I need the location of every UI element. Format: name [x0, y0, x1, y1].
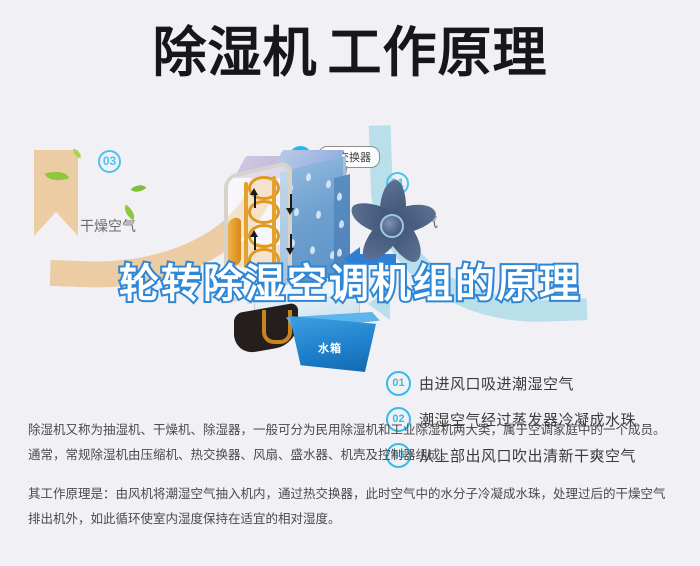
dehumidifier-unit: 水箱 [206, 142, 376, 372]
airflow-arrow-down [286, 208, 294, 215]
step-text: 由进风口吸进潮湿空气 [419, 373, 574, 394]
dry-air-label: 干燥空气 [80, 216, 136, 236]
refrigerant-cylinder [228, 216, 241, 267]
body-paragraph-one: 除湿机又称为抽湿机、干燥机、除湿器，一般可分为民用除湿机和工业除湿机两大类，属于… [28, 418, 676, 468]
airflow-arrow-stem [290, 234, 292, 248]
page-title: 除湿机工作原理 [0, 26, 700, 80]
airflow-arrow-down [286, 248, 294, 255]
watermark-overlay: 轮转除湿空调机组的原理 [0, 262, 700, 306]
list-item: 01 由进风口吸进潮湿空气 [386, 368, 686, 399]
airflow-arrow-stem [254, 236, 256, 250]
copper-u-bend [262, 310, 292, 344]
infographic-page: 除湿机工作原理 03 干燥空气 01 潮湿空气 02 热交换器 [0, 0, 700, 566]
fan-hub [380, 214, 404, 238]
dry-air-badge: 03 [98, 150, 121, 173]
copper-tube [244, 182, 248, 268]
fan [342, 174, 438, 270]
airflow-arrow-stem [254, 194, 256, 208]
title-part-two: 工作原理 [328, 23, 548, 83]
copper-tube [272, 176, 276, 268]
step-badge: 01 [386, 371, 411, 396]
body-paragraph-two: 其工作原理是：由风机将潮湿空气抽入机内，通过热交换器，此时空气中的水分子冷凝成水… [28, 482, 676, 532]
airflow-arrow-up [250, 188, 258, 195]
airflow-arrow-stem [290, 194, 292, 208]
title-part-one: 除湿机 [153, 23, 318, 83]
water-tank-label: 水箱 [318, 340, 342, 356]
airflow-arrow-up [250, 230, 258, 237]
article-body: 除湿机又称为抽湿机、干燥机、除湿器，一般可分为民用除湿机和工业除湿机两大类，属于… [28, 418, 676, 546]
